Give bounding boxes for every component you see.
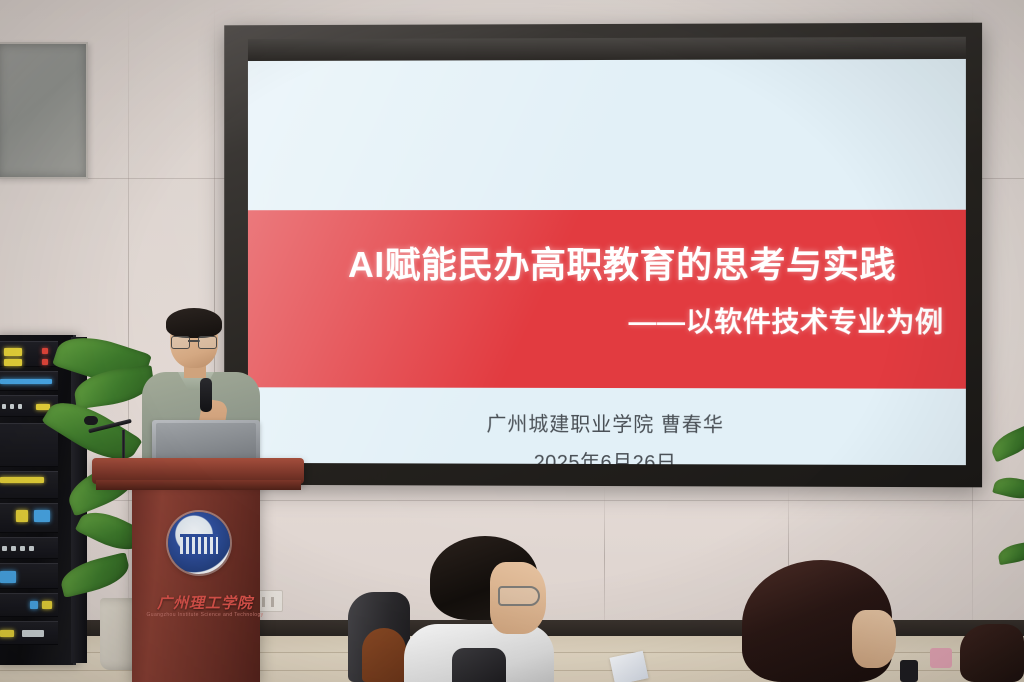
rack-unit <box>0 563 58 589</box>
status-led <box>0 379 52 384</box>
wall-seam <box>604 486 605 628</box>
chair-armrest <box>452 648 506 682</box>
podium-institution-name-cn: 广州理工学院 <box>150 592 260 613</box>
status-led <box>0 630 14 637</box>
slide-title: AI赋能民办高职教育的思考与实践 <box>293 236 951 288</box>
rack-unit <box>0 423 58 467</box>
rack-unit <box>0 471 58 499</box>
audience-member-hair <box>960 624 1024 682</box>
rack-unit <box>0 371 58 391</box>
handheld-microphone <box>200 378 212 412</box>
presenter-hair <box>166 308 222 338</box>
status-led <box>20 546 25 551</box>
audience-member-face <box>852 610 896 668</box>
audience-object <box>930 648 952 668</box>
status-led <box>22 630 44 637</box>
rack-unit <box>0 503 58 533</box>
podium-institution-name-en: Guangzhou Institute Science and Technolo… <box>142 612 268 618</box>
university-emblem <box>168 512 230 574</box>
podium <box>132 472 260 682</box>
status-led <box>4 359 22 366</box>
status-led <box>42 601 52 609</box>
microphone-head <box>84 416 98 425</box>
podium-top-edge <box>96 480 301 490</box>
audience-member-glasses <box>498 586 540 606</box>
emblem-building-icon <box>180 534 218 554</box>
screen-top-bezel <box>248 37 966 61</box>
status-led <box>42 359 48 365</box>
slide-date: 2025年6月26日 <box>248 445 966 465</box>
audience-device <box>900 660 918 682</box>
status-led <box>42 348 48 354</box>
status-led <box>2 546 7 551</box>
status-led <box>4 348 22 356</box>
av-equipment-rack <box>0 335 76 665</box>
audience-paper <box>609 651 648 682</box>
presentation-photo-scene: AI赋能民办高职教育的思考与实践 ——以软件技术专业为例 广州城建职业学院 曹春… <box>0 0 1024 682</box>
status-led <box>2 404 6 409</box>
rack-unit <box>0 341 58 367</box>
rack-unit <box>0 593 58 617</box>
status-led <box>10 404 14 409</box>
status-led <box>18 404 22 409</box>
rack-unit <box>0 621 58 645</box>
status-led <box>30 601 38 609</box>
screen-display-area: AI赋能民办高职教育的思考与实践 ——以软件技术专业为例 广州城建职业学院 曹春… <box>248 59 966 465</box>
rack-unit <box>0 537 58 559</box>
slide-subtitle: ——以软件技术专业为例 <box>628 300 943 340</box>
status-led <box>16 510 28 522</box>
slide-author: 广州城建职业学院 曹春华 <box>248 407 966 438</box>
presentation-slide: AI赋能民办高职教育的思考与实践 ——以软件技术专业为例 广州城建职业学院 曹春… <box>248 59 966 465</box>
glasses-bridge <box>188 340 200 342</box>
chair-wood-panel <box>362 628 406 682</box>
status-led <box>0 571 16 583</box>
presenter-glasses <box>171 336 217 347</box>
projection-screen: AI赋能民办高职教育的思考与实践 ——以软件技术专业为例 广州城建职业学院 曹春… <box>224 23 982 488</box>
status-led <box>11 546 16 551</box>
wall-vent-panel <box>0 42 88 179</box>
status-led <box>0 477 44 483</box>
status-led <box>34 510 50 522</box>
status-led <box>29 546 34 551</box>
